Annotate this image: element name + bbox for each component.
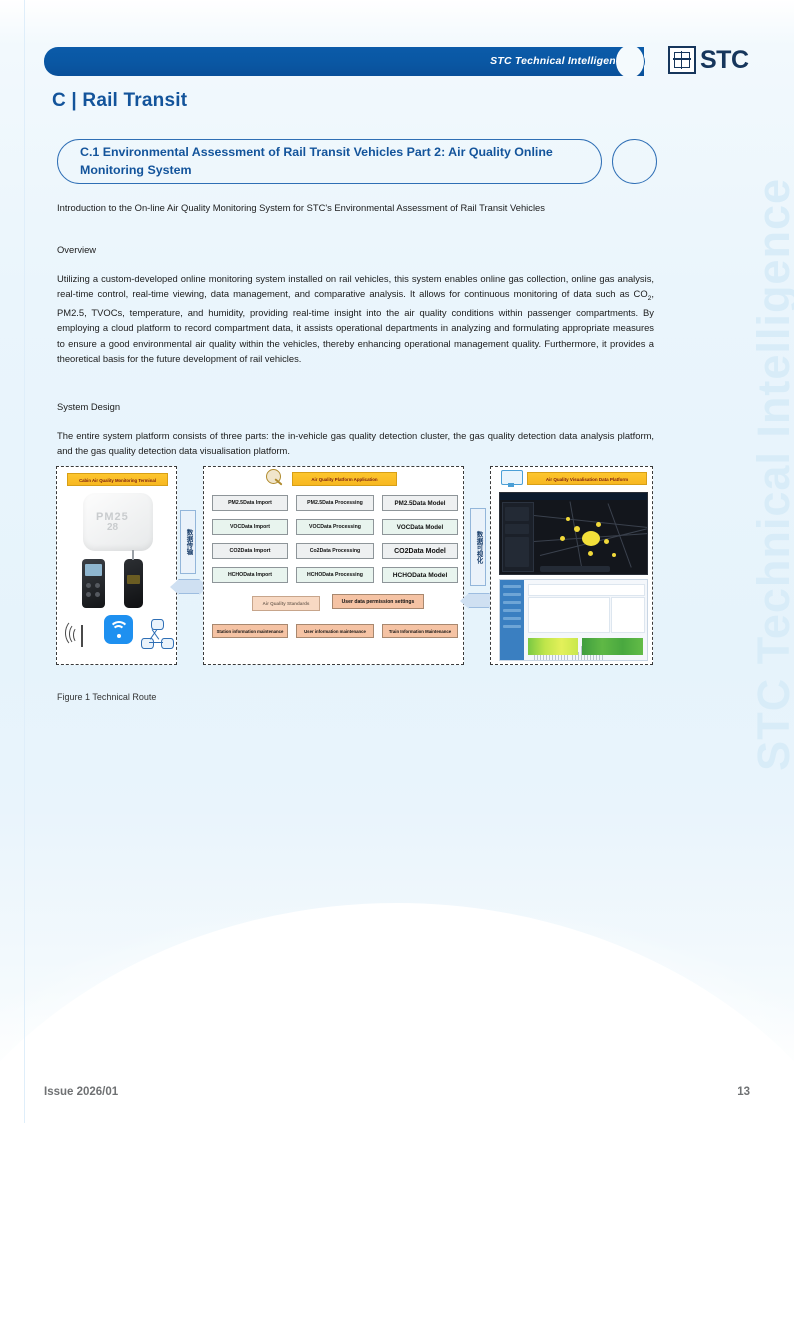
middle-panel-banner: Air Quality Platform Application	[292, 472, 397, 486]
footer-page-number: 13	[737, 1086, 750, 1098]
overview-paragraph: Utilizing a custom-developed online moni…	[57, 271, 654, 366]
monitor-stand	[508, 483, 514, 487]
intro-paragraph: Introduction to the On-line Air Quality …	[57, 201, 654, 216]
figure-left-panel: Cabin Air Quality Monitoring Terminal PM…	[56, 466, 177, 665]
dashboard-filter-bar	[528, 584, 645, 596]
map-panel-widget	[505, 537, 529, 567]
section-title-pill: C.1 Environmental Assessment of Rail Tra…	[57, 139, 602, 184]
left-margin-rule	[24, 0, 25, 1123]
right-panel-banner: Air Quality Visualisation Data Platform	[527, 472, 647, 485]
dashboard-sidebar-row	[503, 625, 521, 628]
header-ribbon-notch	[616, 45, 644, 78]
dashboard-sidebar-row	[503, 601, 521, 604]
gas-probe-device-image	[124, 559, 143, 608]
grid-box-hcho-import[interactable]: HCHOData Import	[212, 567, 288, 583]
grid-box-station-info[interactable]: Station information maintenance	[212, 624, 288, 638]
wifi-dot	[117, 634, 121, 638]
grid-box-user-data-permission[interactable]: User data permission settings	[332, 594, 424, 609]
handheld-button	[86, 583, 91, 588]
section-pill-circle	[612, 139, 657, 184]
database-network-icon	[141, 619, 173, 649]
map-heat-blob	[588, 551, 593, 556]
map-heat-blob	[574, 526, 580, 532]
monitor-icon	[499, 469, 523, 489]
header-ribbon: STC Technical Intelligence	[44, 47, 644, 76]
grid-box-pm25-model[interactable]: PM2.5Data Model	[382, 495, 458, 511]
figure-middle-panel: Air Quality Platform Application PM2.5Da…	[203, 466, 464, 665]
dashboard-sidebar-row	[503, 617, 521, 620]
dashboard-sidebar-row	[503, 593, 521, 596]
map-panel-widget	[505, 524, 529, 534]
radio-transmission-icon	[65, 617, 99, 649]
system-design-paragraph: The entire system platform consists of t…	[57, 428, 654, 458]
antenna-wave	[65, 619, 87, 647]
grid-box-hcho-processing[interactable]: HCHOData Processing	[296, 567, 374, 583]
section-title-text: C.1 Environmental Assessment of Rail Tra…	[80, 144, 579, 180]
dashboard-table-card	[611, 597, 645, 633]
map-heat-blob	[560, 536, 565, 541]
sensor-reading-bottom: 28	[107, 522, 118, 533]
handheld-button	[95, 583, 100, 588]
handheld-detector-image	[82, 559, 105, 608]
figure-right-panel: Air Quality Visualisation Data Platform	[490, 466, 653, 665]
page-background-glow	[0, 903, 794, 1083]
connector-label-data-transmission: 数据传输	[180, 510, 196, 574]
dashboard-chart-bar	[578, 652, 579, 660]
stc-logo: STC	[668, 46, 749, 74]
stc-logo-text: STC	[700, 48, 749, 73]
analysis-dashboard-screenshot	[499, 579, 648, 661]
overview-heading: Overview	[57, 244, 96, 255]
footer-issue: Issue 2026/01	[44, 1086, 118, 1098]
dashboard-sidebar-row	[503, 585, 521, 588]
grid-box-voc-import[interactable]: VOCData Import	[212, 519, 288, 535]
grid-box-user-info[interactable]: User information maintenance	[296, 624, 374, 638]
grid-box-pm25-processing[interactable]: PM2.5Data Processing	[296, 495, 374, 511]
system-design-heading: System Design	[57, 401, 120, 412]
map-heat-blob	[566, 517, 570, 521]
dashboard-sidebar	[500, 580, 524, 660]
chapter-title: C | Rail Transit	[52, 90, 187, 112]
handheld-button	[86, 592, 91, 597]
connector-label-data-visualisation: 数据可视化	[470, 508, 486, 586]
grid-box-voc-processing[interactable]: VOCData Processing	[296, 519, 374, 535]
stc-square-mark-icon	[668, 46, 696, 74]
wifi-icon	[104, 615, 133, 644]
grid-box-air-quality-standards[interactable]: Air Quality Standards	[252, 596, 320, 611]
probe-antenna	[132, 550, 134, 560]
dashboard-sidebar-row	[503, 609, 521, 612]
map-panel-widget	[505, 507, 529, 521]
air-quality-sensor-image: PM25 28	[83, 493, 153, 551]
map-road	[534, 515, 648, 529]
connector-arrow-2	[468, 593, 490, 608]
magnifier-icon	[266, 469, 285, 488]
map-bottom-toolbar	[540, 566, 610, 572]
map-heat-blob	[604, 539, 609, 544]
grid-box-pm25-import[interactable]: PM2.5Data Import	[212, 495, 288, 511]
grid-box-co2-import[interactable]: CO2Data Import	[212, 543, 288, 559]
database-link	[149, 642, 163, 643]
overview-text-a: Utilizing a custom-developed online moni…	[57, 273, 654, 299]
grid-box-hcho-model[interactable]: HCHOData Model	[382, 567, 458, 583]
dashboard-chart-card	[528, 597, 610, 633]
map-heat-blob	[596, 522, 601, 527]
database-node	[141, 638, 154, 649]
page-watermark: STC Technical Intelligence	[748, 178, 794, 771]
database-node	[161, 638, 174, 649]
map-heat-blob	[612, 553, 616, 557]
grid-box-voc-model[interactable]: VOCData Model	[382, 519, 458, 535]
grid-box-co2-model[interactable]: CO2Data Model	[382, 543, 458, 559]
left-panel-banner: Cabin Air Quality Monitoring Terminal	[67, 473, 168, 486]
map-topbar	[500, 493, 647, 500]
dashboard-heatmap-left	[528, 638, 578, 655]
visualisation-map-screenshot	[499, 492, 648, 575]
map-road	[570, 501, 583, 570]
connector-arrow-1	[178, 579, 200, 594]
map-heat-blob	[582, 531, 600, 546]
grid-box-co2-processing[interactable]: Co2Data Processing	[296, 543, 374, 559]
database-node	[151, 619, 164, 630]
overview-text-b: , PM2.5, TVOCs, temperature, and humidit…	[57, 288, 654, 364]
figure-caption: Figure 1 Technical Route	[57, 692, 156, 702]
handheld-detector-screen	[85, 564, 102, 576]
probe-screen	[127, 575, 140, 584]
handheld-button	[95, 592, 100, 597]
dashboard-heatmap-right	[582, 638, 643, 655]
grid-box-train-info[interactable]: Train Information Maintenance	[382, 624, 458, 638]
technical-route-figure: Cabin Air Quality Monitoring Terminal PM…	[56, 466, 653, 665]
